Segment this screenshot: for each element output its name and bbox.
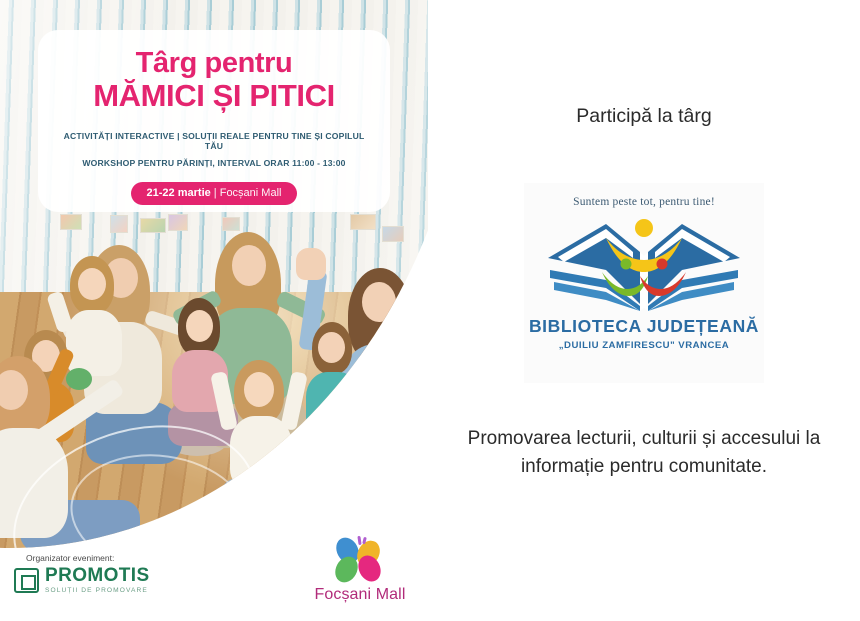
mission-statement: Promovarea lecturii, culturii și accesul… xyxy=(444,425,844,481)
library-tagline: Suntem peste tot, pentru tine! xyxy=(573,196,715,208)
badge-dates: 21-22 martie xyxy=(147,187,211,199)
poster-subtitle-workshop: WORKSHOP PENTRU PĂRINȚI, INTERVAL ORAR 1… xyxy=(54,158,374,168)
participate-heading: Participă la târg xyxy=(428,105,860,128)
wall-artwork xyxy=(168,214,188,231)
library-name: BIBLIOTECA JUDEȚEANĂ xyxy=(529,316,759,337)
focsani-mall-logo: Focșani Mall xyxy=(300,536,420,604)
wall-artwork xyxy=(60,214,82,230)
poster-title-line1: Târg pentru xyxy=(54,48,374,79)
floor-cushion xyxy=(288,428,348,464)
right-content-panel: Participă la târg Suntem peste tot, pent… xyxy=(428,0,860,621)
headline-card: Târg pentru MĂMICI ȘI PITICI ACTIVITĂȚI … xyxy=(38,30,390,212)
wall-artwork xyxy=(110,215,128,233)
focsani-mall-name: Focșani Mall xyxy=(300,586,420,604)
open-book-with-figures-icon xyxy=(544,212,744,312)
wall-artwork xyxy=(350,214,376,230)
library-subtitle: „DUILIU ZAMFIRESCU" VRANCEA xyxy=(559,340,729,351)
organizer-label: Organizator eveniment: xyxy=(26,553,114,563)
promotis-square-icon xyxy=(14,568,39,593)
wall-artwork xyxy=(382,226,404,242)
poster-subtitle-activities: ACTIVITĂȚI INTERACTIVE | SOLUȚII REALE P… xyxy=(54,131,374,151)
library-logo: Suntem peste tot, pentru tine! xyxy=(524,183,764,383)
pinwheel-icon xyxy=(334,536,386,582)
pinwheel-spark xyxy=(357,536,361,545)
event-poster: Târg pentru MĂMICI ȘI PITICI ACTIVITĂȚI … xyxy=(0,0,428,621)
badge-venue: | Focșani Mall xyxy=(211,187,282,199)
promotis-name: PROMOTIS xyxy=(45,566,150,585)
promotis-tagline: SOLUȚII DE PROMOVARE xyxy=(45,588,150,595)
poster-page: Târg pentru MĂMICI ȘI PITICI ACTIVITĂȚI … xyxy=(0,0,860,621)
wall-artwork xyxy=(222,217,240,231)
wall-artwork xyxy=(140,218,166,233)
date-venue-badge: 21-22 martie | Focșani Mall xyxy=(131,182,298,205)
promotis-logo: PROMOTIS SOLUȚII DE PROMOVARE xyxy=(14,566,150,595)
poster-title-line2: MĂMICI ȘI PITICI xyxy=(54,80,374,113)
